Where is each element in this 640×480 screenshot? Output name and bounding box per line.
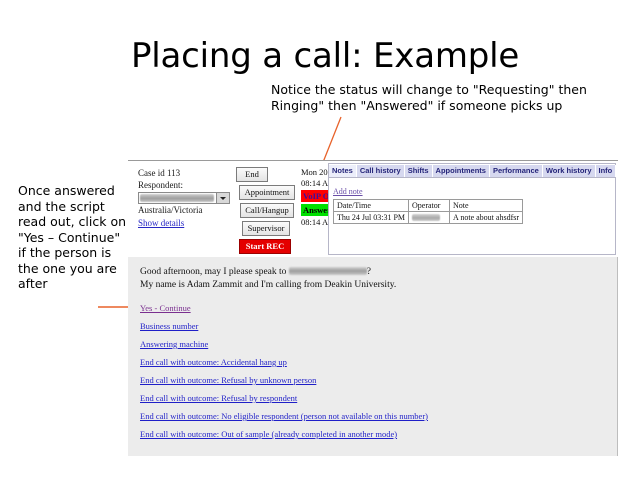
- tab-info[interactable]: Info: [596, 165, 617, 177]
- case-info-block: Case id 113 Respondent: Australia/Victor…: [138, 168, 243, 229]
- script-greeting-text: Good afternoon, may I please speak to: [140, 267, 289, 277]
- option-yes-continue[interactable]: Yes - Continue: [140, 303, 191, 313]
- col-note: Note: [450, 200, 523, 212]
- script-greeting-suffix: ?: [367, 267, 371, 277]
- appointment-button[interactable]: Appointment: [239, 185, 295, 200]
- tab-bar-filler: [616, 165, 618, 177]
- show-details-link[interactable]: Show details: [138, 218, 184, 230]
- call-action-buttons: End Appointment Call/Hangup Supervisor S…: [236, 167, 298, 257]
- case-id-label: Case id 113: [138, 168, 243, 180]
- outcome-link-list: Yes - Continue Business number Answering…: [140, 303, 605, 439]
- notes-panel: Notes Call history Shifts Appointments P…: [328, 163, 616, 255]
- app-header-region: Case id 113 Respondent: Australia/Victor…: [128, 160, 618, 258]
- notes-table: Date/Time Operator Note Thu 24 Jul 03:31…: [333, 199, 523, 224]
- end-button[interactable]: End: [236, 167, 268, 182]
- tab-call-history[interactable]: Call history: [357, 165, 405, 177]
- cell-note: A note about ahsdfsr: [450, 212, 523, 224]
- option-out-of-sample[interactable]: End call with outcome: Out of sample (al…: [140, 429, 397, 439]
- table-header-row: Date/Time Operator Note: [334, 200, 523, 212]
- cell-operator-redacted: [409, 212, 450, 224]
- option-refusal-respondent[interactable]: End call with outcome: Refusal by respon…: [140, 393, 297, 403]
- tab-bar: Notes Call history Shifts Appointments P…: [329, 164, 615, 178]
- tab-notes[interactable]: Notes: [329, 165, 357, 177]
- timezone-label: Australia/Victoria: [138, 205, 243, 217]
- script-line-greeting: Good afternoon, may I please speak to ?: [140, 266, 605, 279]
- embedded-app-screenshot: Case id 113 Respondent: Australia/Victor…: [128, 160, 618, 456]
- respondent-redacted-value: [140, 194, 214, 202]
- supervisor-button[interactable]: Supervisor: [242, 221, 290, 236]
- callout-instruction-note: Once answered and the script read out, c…: [18, 183, 130, 292]
- respondent-name-redacted: [289, 267, 367, 275]
- add-note-link[interactable]: Add note: [333, 187, 363, 196]
- tab-work-history[interactable]: Work history: [543, 165, 596, 177]
- chevron-down-icon[interactable]: [216, 193, 229, 203]
- cell-datetime: Thu 24 Jul 03:31 PM: [334, 212, 409, 224]
- table-row[interactable]: Thu 24 Jul 03:31 PM A note about ahsdfsr: [334, 212, 523, 224]
- respondent-label: Respondent:: [138, 180, 243, 192]
- script-area: Good afternoon, may I please speak to ? …: [128, 257, 618, 456]
- col-datetime: Date/Time: [334, 200, 409, 212]
- tab-shifts[interactable]: Shifts: [405, 165, 433, 177]
- start-rec-button[interactable]: Start REC: [239, 239, 291, 254]
- callout-status-note: Notice the status will change to "Reques…: [271, 82, 601, 113]
- call-hangup-button[interactable]: Call/Hangup: [240, 203, 294, 218]
- option-answering-machine[interactable]: Answering machine: [140, 339, 208, 349]
- page-title: Placing a call: Example: [131, 36, 519, 76]
- notes-body: Add note Date/Time Operator Note Thu 24 …: [329, 178, 615, 227]
- respondent-select[interactable]: [138, 192, 230, 204]
- tab-performance[interactable]: Performance: [490, 165, 543, 177]
- script-line-introduction: My name is Adam Zammit and I'm calling f…: [140, 279, 605, 292]
- option-refusal-unknown-person[interactable]: End call with outcome: Refusal by unknow…: [140, 375, 316, 385]
- tab-appointments[interactable]: Appointments: [433, 165, 490, 177]
- option-business-number[interactable]: Business number: [140, 321, 198, 331]
- col-operator: Operator: [409, 200, 450, 212]
- option-accidental-hang-up[interactable]: End call with outcome: Accidental hang u…: [140, 357, 287, 367]
- option-no-eligible-respondent[interactable]: End call with outcome: No eligible respo…: [140, 411, 428, 421]
